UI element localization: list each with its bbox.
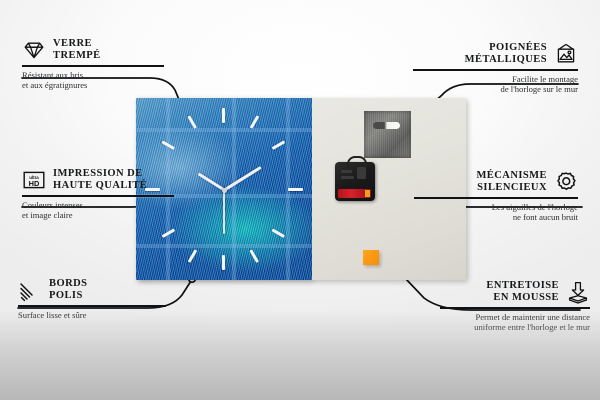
quartz-mechanism-box	[335, 162, 375, 201]
hour-marker	[288, 188, 303, 191]
foam-spacer-arrow-icon	[566, 280, 590, 304]
foam-spacer	[363, 250, 379, 265]
hour-marker	[222, 255, 225, 270]
svg-text:HD: HD	[29, 179, 40, 188]
hour-marker	[188, 115, 197, 128]
hour-marker	[272, 228, 285, 237]
feature-title: MÉCANISME	[476, 170, 547, 182]
feature-subtitle: Les aiguilles de l'horloge	[414, 202, 578, 212]
feature-title: BORDS	[49, 278, 87, 290]
ultra-hd-icon: ultra HD	[22, 168, 46, 192]
feature-title: ENTRETOISE	[486, 280, 559, 292]
feature-subtitle: Surface lisse et sûre	[18, 310, 178, 320]
hour-marker	[250, 115, 259, 128]
feature-poignees-metalliques: POIGNÉES MÉTALLIQUES Facilite le montage…	[413, 42, 578, 95]
divider-rule	[413, 69, 578, 70]
feature-subtitle: ne font aucun bruit	[414, 212, 578, 222]
feature-title: EN MOUSSE	[486, 292, 559, 304]
hour-marker	[222, 108, 225, 123]
feature-subtitle: Permet de maintenir une distance	[440, 312, 590, 322]
feature-title: POLIS	[49, 290, 87, 302]
polished-edges-icon	[18, 278, 42, 302]
feature-verre-trempe: VERRE TREMPÉ Résistant aux bris et aux é…	[22, 38, 182, 91]
feature-title: TREMPÉ	[53, 50, 101, 62]
feature-mecanisme-silencieux: MÉCANISME SILENCIEUX Les aiguilles de l'…	[414, 170, 578, 223]
feature-title: IMPRESSION DE	[53, 168, 147, 180]
divider-rule	[18, 305, 166, 306]
metal-hanger-plate	[364, 111, 411, 158]
feature-subtitle: Résistant aux bris	[22, 70, 182, 80]
hanger-loop	[347, 156, 367, 167]
diamond-icon	[22, 38, 46, 62]
feature-subtitle: et image claire	[22, 210, 197, 220]
feature-impression-haute-qualite: ultra HD IMPRESSION DE HAUTE QUALITÉ Cou…	[22, 168, 197, 221]
battery	[338, 189, 371, 198]
divider-rule	[22, 65, 164, 66]
feature-title: MÉTALLIQUES	[465, 54, 547, 66]
divider-rule	[414, 197, 578, 198]
infographic-canvas: VERRE TREMPÉ Résistant aux bris et aux é…	[0, 0, 600, 400]
divider-rule	[22, 195, 174, 196]
feature-subtitle: uniforme entre l'horloge et le mur	[440, 322, 590, 332]
keyhole-slot	[373, 122, 400, 129]
wall-frame-hanger-icon	[554, 42, 578, 66]
feature-title: VERRE	[53, 38, 101, 50]
feature-subtitle: Facilite le montage	[413, 74, 578, 84]
hour-marker	[188, 249, 197, 262]
feature-subtitle: et aux égratignures	[22, 80, 182, 90]
feature-title: HAUTE QUALITÉ	[53, 180, 147, 192]
feature-subtitle: de l'horloge sur le mur	[413, 84, 578, 94]
feature-title: SILENCIEUX	[476, 182, 547, 194]
hour-marker	[272, 140, 285, 149]
gear-icon	[554, 170, 578, 194]
feature-title: POIGNÉES	[465, 42, 547, 54]
second-hand	[223, 190, 224, 234]
feature-bords-polis: BORDS POLIS Surface lisse et sûre	[18, 278, 178, 320]
feature-subtitle: Couleurs intenses	[22, 200, 197, 210]
clock-center-hub	[222, 188, 227, 193]
hour-marker	[250, 249, 259, 262]
feature-entretoise-en-mousse: ENTRETOISE EN MOUSSE Permet de maintenir…	[440, 280, 590, 333]
minute-hand	[223, 166, 261, 191]
hour-hand	[197, 172, 225, 191]
divider-rule	[440, 307, 590, 308]
